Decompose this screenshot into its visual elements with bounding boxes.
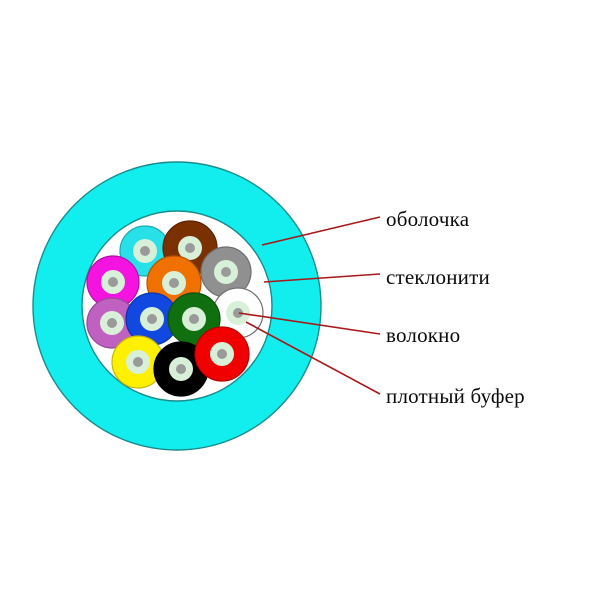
fiber-core-brown bbox=[185, 243, 195, 253]
fiber-core-green bbox=[189, 314, 199, 324]
fiber-red bbox=[195, 327, 249, 381]
cable-illustration bbox=[0, 0, 600, 600]
fiber-core-blue bbox=[147, 314, 157, 324]
fiber-core-red bbox=[217, 349, 227, 359]
callout-label-sheath: оболочка bbox=[386, 209, 469, 230]
fiber-core-cyan bbox=[140, 246, 150, 256]
callout-label-fiber: волокно bbox=[386, 325, 460, 346]
fiber-core-gray bbox=[221, 267, 231, 277]
callout-label-buffer: плотный буфер bbox=[386, 386, 525, 407]
cable-cross-section-diagram: оболочка стеклонити волокно плотный буфе… bbox=[0, 0, 600, 600]
callout-label-strands: стеклонити bbox=[386, 267, 490, 288]
fiber-core-orchid bbox=[107, 318, 117, 328]
fiber-core-black bbox=[176, 364, 186, 374]
fiber-core-orange bbox=[169, 278, 179, 288]
fiber-core-yellow bbox=[133, 357, 143, 367]
fiber-core-magenta bbox=[108, 277, 118, 287]
